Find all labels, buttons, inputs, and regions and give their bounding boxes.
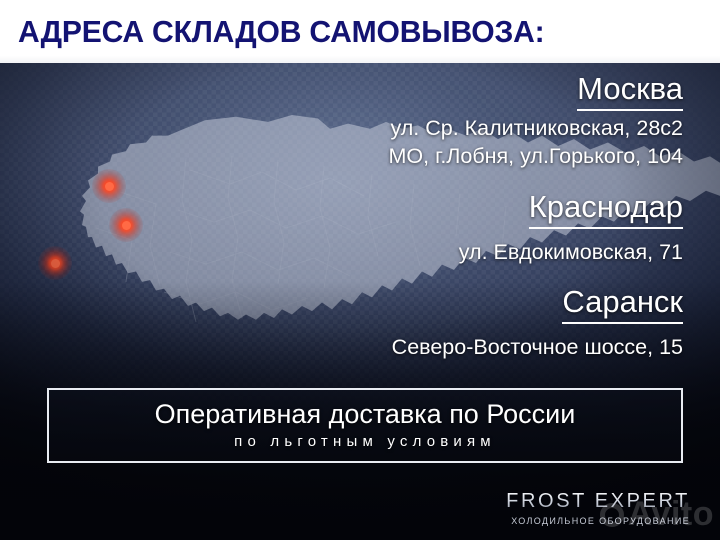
promo-box: Оперативная доставка по России по льготн… — [47, 388, 683, 463]
city-name-moscow: Москва — [577, 70, 683, 111]
address-group-moscow: Москва ул. Ср. Калитниковская, 28с2 МО, … — [253, 70, 683, 171]
address-line: ул. Евдокимовская, 71 — [253, 239, 683, 267]
address-line: ул. Ср. Калитниковская, 28с2 — [253, 115, 683, 143]
brand-logo: FROST EXPERT ХОЛОДИЛЬНОЕ ОБОРУДОВАНИЕ — [506, 490, 690, 526]
address-group-saransk: Саранск Северо-Восточное шоссе, 15 — [253, 283, 683, 362]
header-bar: АДРЕСА СКЛАДОВ САМОВЫВОЗА: — [0, 0, 720, 63]
address-list: Москва ул. Ср. Калитниковская, 28с2 МО, … — [253, 70, 683, 362]
page-title: АДРЕСА СКЛАДОВ САМОВЫВОЗА: — [18, 16, 544, 47]
brand-name: FROST EXPERT — [506, 490, 690, 513]
promo-headline: Оперативная доставка по России — [155, 400, 576, 428]
address-group-krasnodar: Краснодар ул. Евдокимовская, 71 — [253, 188, 683, 267]
city-name-saransk: Саранск — [562, 283, 683, 324]
poster-canvas: АДРЕСА СКЛАДОВ САМОВЫВОЗА: Москва ул. Ср… — [0, 0, 720, 540]
brand-tagline: ХОЛОДИЛЬНОЕ ОБОРУДОВАНИЕ — [506, 516, 690, 526]
address-line: МО, г.Лобня, ул.Горького, 104 — [253, 143, 683, 171]
city-name-krasnodar: Краснодар — [529, 188, 683, 229]
promo-subline: по льготным условиям — [234, 434, 496, 451]
address-line: Северо-Восточное шоссе, 15 — [253, 334, 683, 362]
